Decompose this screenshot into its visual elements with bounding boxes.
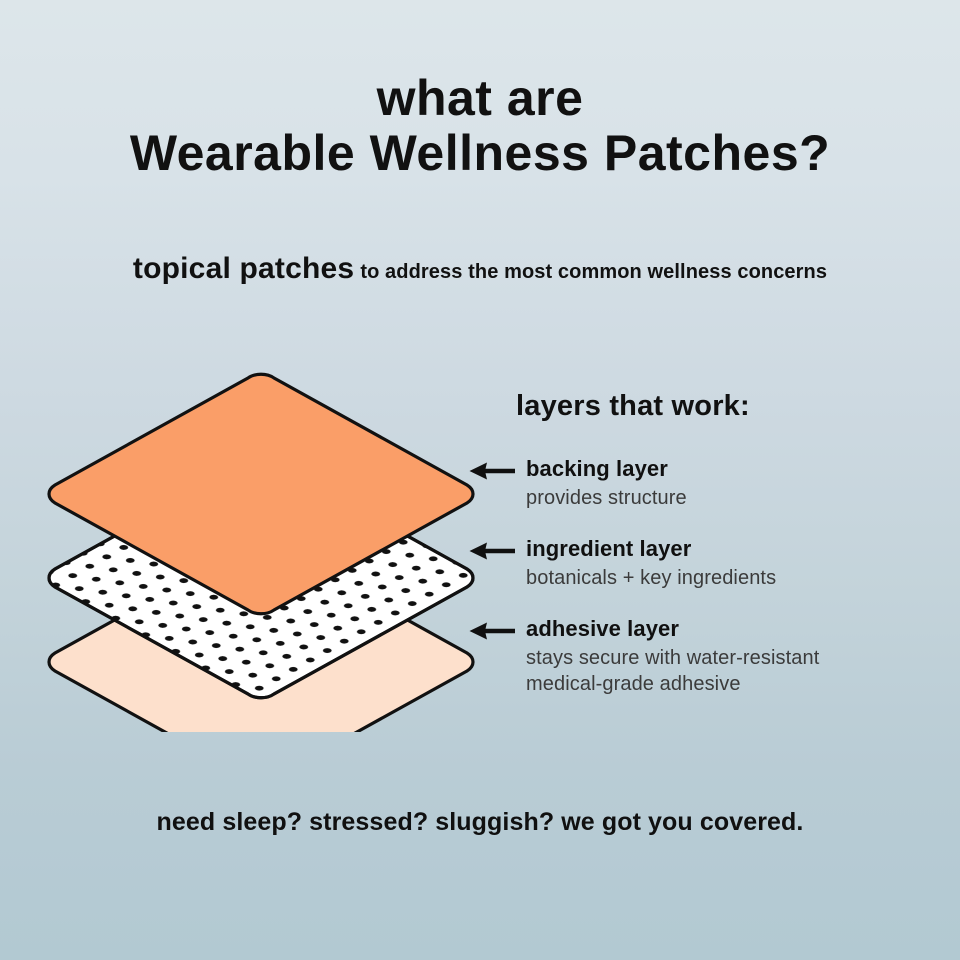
subtitle-rest: to address the most common wellness conc… [360,261,827,283]
callout-title: backing layer [526,455,948,483]
callout-description: botanicals + key ingredients [526,565,948,592]
callout-description: provides structure [526,485,948,512]
footer-tagline: need sleep? stressed? sluggish? we got y… [0,808,960,837]
callout-description: stays secure with water-resistant medica… [526,645,948,698]
layers-callout-list: layers that work: backing layer provides… [468,390,948,722]
callout-backing-layer: backing layer provides structure [468,455,948,511]
subtitle: topical patchesto address the most commo… [0,252,960,286]
callout-title: ingredient layer [526,535,948,563]
subtitle-emphasis: topical patches [133,252,354,285]
callout-description-line: botanicals + key ingredients [526,565,948,592]
page-title-line-2: Wearable Wellness Patches? [0,124,960,183]
arrow-left-icon [468,541,516,561]
infographic-poster: what are Wearable Wellness Patches? topi… [0,0,960,960]
layers-callout-heading: layers that work: [516,390,948,423]
callout-description-line: stays secure with water-resistant [526,645,948,672]
page-title-line-1: what are [0,72,960,124]
callout-adhesive-layer: adhesive layer stays secure with water-r… [468,615,948,698]
callout-description-line: provides structure [526,485,948,512]
callout-description-line: medical-grade adhesive [526,671,948,698]
callout-ingredient-layer: ingredient layer botanicals + key ingred… [468,535,948,591]
page-title: what are Wearable Wellness Patches? [0,72,960,183]
patch-layer-diagram [36,372,486,732]
arrow-left-icon [468,621,516,641]
callout-title: adhesive layer [526,615,948,643]
arrow-left-icon [468,461,516,481]
